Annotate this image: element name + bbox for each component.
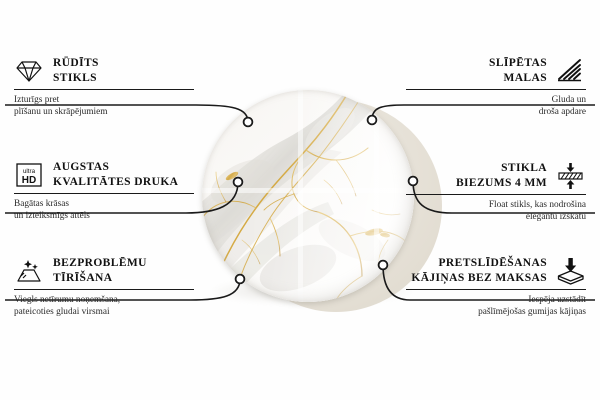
feature-description: Iespēja uzstādīt pašlīmējošas gumijas kā…: [406, 294, 586, 319]
feature-tempered-glass: RŪDĪTS STIKLS Izturīgs pret plīšanu un s…: [14, 56, 194, 119]
feature-title: STIKLA BIEZUMS 4 MM: [456, 161, 547, 191]
feature-description: Izturīgs pret plīšanu un skrāpējumiem: [14, 94, 194, 119]
thickness-arrows-icon: [556, 161, 586, 191]
feature-header: ultra HD AUGSTAS KVALITĀTES DRUKA: [14, 160, 194, 190]
divider: [14, 193, 194, 194]
feature-header: RŪDĪTS STIKLS: [14, 56, 194, 86]
feature-title: AUGSTAS KVALITĀTES DRUKA: [53, 160, 178, 190]
hatched-triangle-icon: [556, 56, 586, 86]
feature-header: BEZPROBLĒMU TĪRĪŠANA: [14, 256, 194, 286]
divider: [406, 289, 586, 290]
svg-text:HD: HD: [22, 175, 36, 186]
infographic-canvas: RŪDĪTS STIKLS Izturīgs pret plīšanu un s…: [0, 0, 600, 400]
feature-title: BEZPROBLĒMU TĪRĪŠANA: [53, 256, 147, 286]
feature-description: Bagātas krāsas un izteiksmīgs attēls: [14, 198, 194, 223]
feature-description: Gluda un droša apdare: [406, 94, 586, 119]
feature-anti-slip-feet: PRETSLĪDĒŠANAS KĀJIŅAS BEZ MAKSAS Iespēj…: [406, 256, 586, 319]
feature-easy-cleaning: BEZPROBLĒMU TĪRĪŠANA Viegls netīrumu noņ…: [14, 256, 194, 319]
product-image: [160, 78, 440, 338]
feature-header: STIKLA BIEZUMS 4 MM: [406, 161, 586, 191]
feature-title: PRETSLĪDĒŠANAS KĀJIŅAS BEZ MAKSAS: [411, 256, 547, 286]
feature-title: RŪDĪTS STIKLS: [53, 56, 99, 86]
ultra-hd-icon: ultra HD: [14, 160, 44, 190]
feature-header: PRETSLĪDĒŠANAS KĀJIŅAS BEZ MAKSAS: [406, 256, 586, 286]
feature-header: SLĪPĒTAS MALAS: [406, 56, 586, 86]
feature-title: SLĪPĒTAS MALAS: [489, 56, 547, 86]
divider: [14, 89, 194, 90]
divider: [406, 89, 586, 90]
feature-polished-edges: SLĪPĒTAS MALAS Gluda un droša apdare: [406, 56, 586, 119]
product-glass-disc: [202, 90, 414, 302]
diamond-icon: [14, 56, 44, 86]
svg-text:ultra: ultra: [23, 168, 36, 175]
divider: [406, 194, 586, 195]
arrow-into-pad-icon: [556, 256, 586, 286]
divider: [14, 289, 194, 290]
feature-description: Float stikls, kas nodrošina elegantu izs…: [406, 199, 586, 224]
sparkle-surface-icon: [14, 256, 44, 286]
feature-glass-thickness: STIKLA BIEZUMS 4 MM Float stikls, kas no…: [406, 161, 586, 224]
marble-texture: [202, 90, 414, 302]
feature-print-quality: ultra HD AUGSTAS KVALITĀTES DRUKA Bagāta…: [14, 160, 194, 223]
feature-description: Viegls netīrumu noņemšana, pateicoties g…: [14, 294, 194, 319]
